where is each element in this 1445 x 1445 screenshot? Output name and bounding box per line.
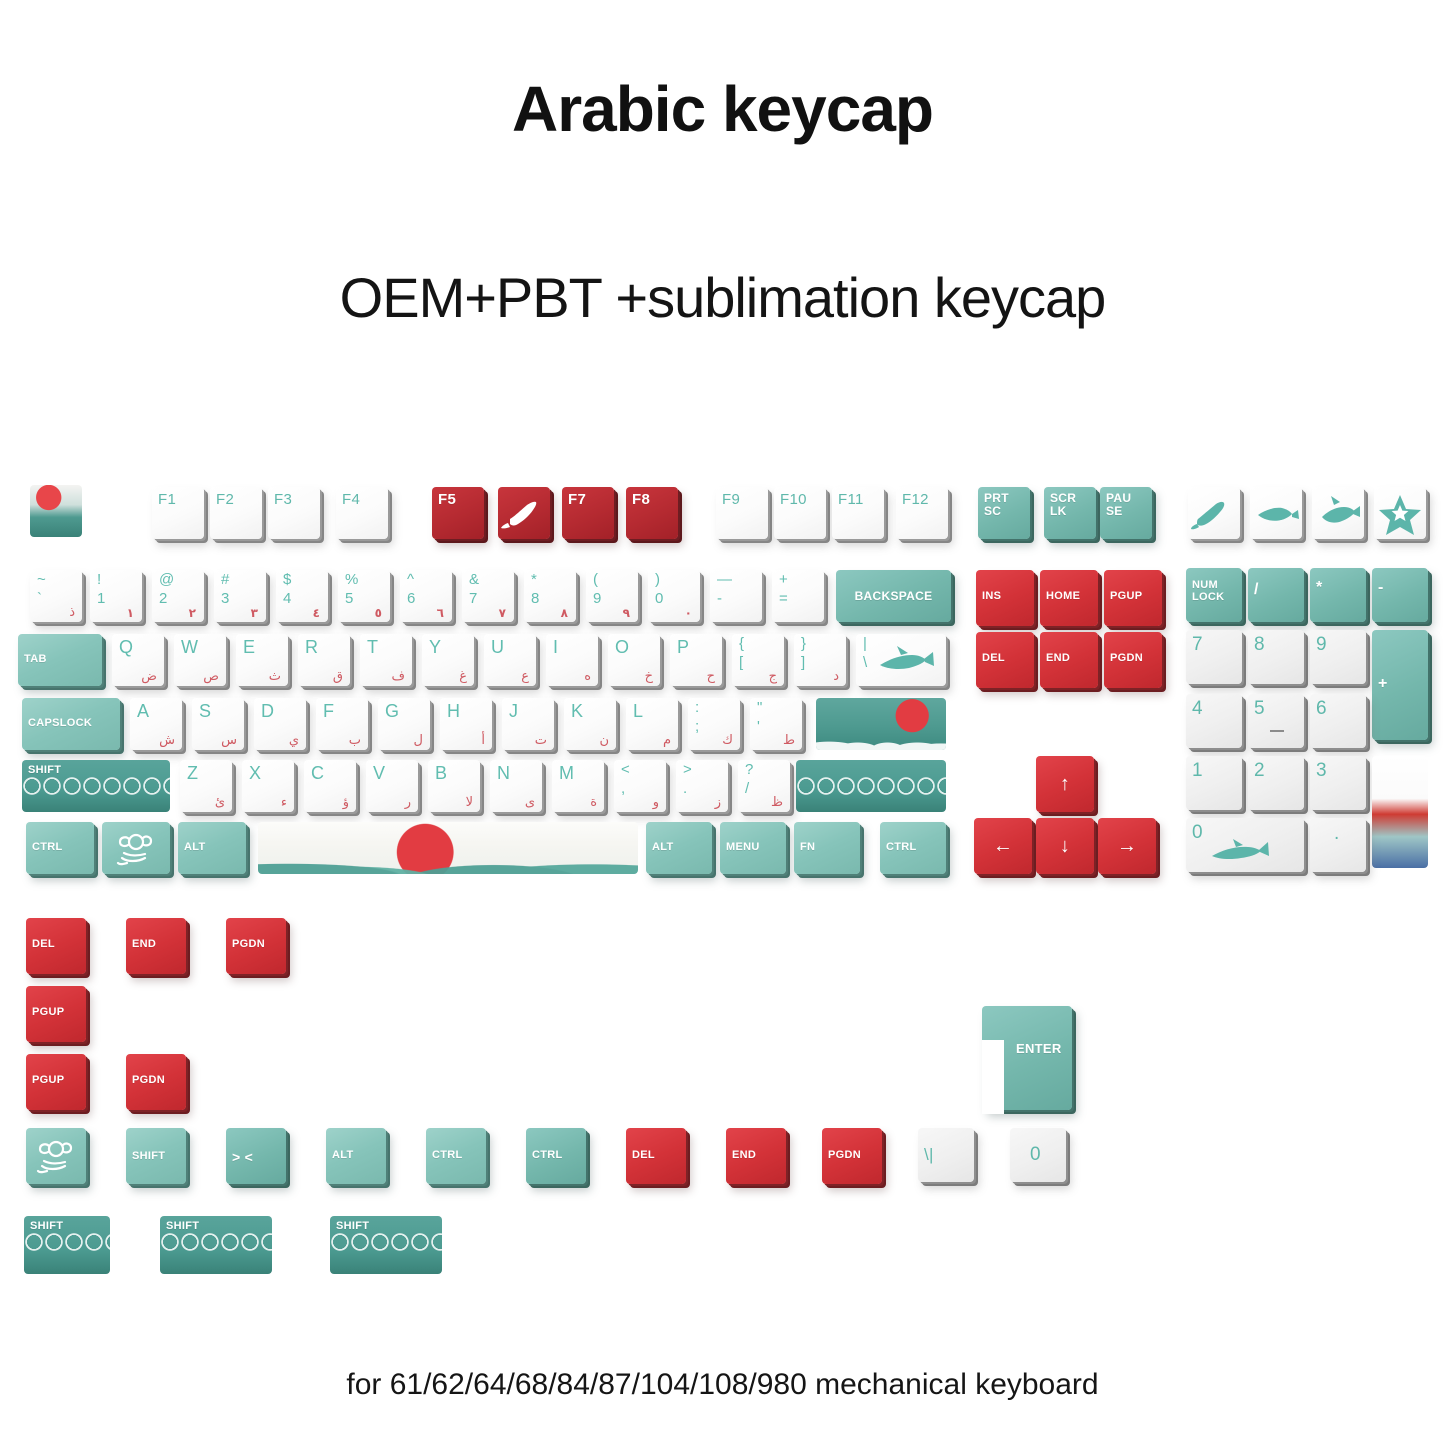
key-semicolon-arabic: ك: [722, 733, 733, 748]
key-a[interactable]: Aش: [130, 698, 182, 750]
key-a-arabic: ش: [159, 733, 175, 748]
key-end-label: END: [1046, 653, 1070, 665]
cloud-icon: [102, 822, 170, 874]
key-menu[interactable]: MENU: [720, 822, 786, 874]
key-numpad-6[interactable]: 6: [1310, 694, 1366, 748]
key-f6[interactable]: [498, 487, 550, 539]
key-digit-2[interactable]: @ 2 ٢: [152, 570, 204, 622]
key-q-latin: Q: [119, 637, 133, 658]
key-digit-6-base: 6: [407, 590, 416, 607]
key-c-arabic: ؤ: [343, 795, 349, 810]
key-pageup-label: PGUP: [1110, 591, 1142, 603]
key-extra-end-2[interactable]: END: [726, 1128, 786, 1184]
key-semicolon-shift: :: [695, 699, 699, 716]
key-scrolllock[interactable]: SCR LK: [1044, 487, 1096, 539]
key-f-latin: F: [323, 701, 334, 722]
key-novelty-fish-2[interactable]: [1250, 487, 1302, 539]
key-digit-3[interactable]: # 3 ٣: [214, 570, 266, 622]
key-f8[interactable]: F8: [626, 487, 678, 539]
key-numpad-8[interactable]: 8: [1248, 630, 1304, 684]
key-s[interactable]: Sس: [192, 698, 244, 750]
key-period-shift: >: [683, 761, 692, 778]
key-z-arabic: ئ: [215, 795, 225, 810]
key-backspace-label: BACKSPACE: [836, 570, 951, 622]
key-k-latin: K: [571, 701, 583, 722]
key-b-latin: B: [435, 763, 447, 784]
key-period-base: .: [683, 780, 687, 797]
key-v[interactable]: Vر: [366, 760, 418, 812]
key-extra-zero[interactable]: 0: [1010, 1128, 1066, 1182]
key-extra-pgdn-3-label: PGDN: [828, 1150, 861, 1162]
key-j-arabic: ت: [535, 733, 547, 748]
key-extra-end-1[interactable]: END: [126, 918, 186, 974]
cloud-icon: [26, 1128, 86, 1184]
key-arrow-right-label: →: [1098, 818, 1156, 874]
key-o[interactable]: Oخ: [608, 634, 660, 686]
key-extra-del-2-label: DEL: [632, 1150, 655, 1162]
key-home[interactable]: HOME: [1040, 570, 1098, 626]
key-e[interactable]: Eث: [236, 634, 288, 686]
key-extra-shift-2[interactable]: SHIFT: [160, 1216, 272, 1274]
key-f[interactable]: Fب: [316, 698, 368, 750]
key-f7[interactable]: F7: [562, 487, 614, 539]
key-numpad-5[interactable]: 5: [1248, 694, 1304, 748]
key-extra-pgdn-2[interactable]: PGDN: [126, 1054, 186, 1110]
key-w-latin: W: [181, 637, 198, 658]
key-numpad-divide[interactable]: /: [1248, 568, 1304, 622]
key-numpad-dot-label: .: [1334, 824, 1340, 844]
key-digit-9-arabic: ٩: [623, 606, 630, 620]
key-digit-0-shift: ): [655, 571, 660, 588]
key-delete-label: DEL: [982, 653, 1005, 665]
key-insert[interactable]: INS: [976, 570, 1034, 626]
key-tab-label: TAB: [24, 654, 47, 666]
key-quote[interactable]: " ' ط: [750, 698, 802, 750]
key-alt-left-label: ALT: [184, 842, 205, 854]
key-esc-art[interactable]: [30, 485, 82, 537]
key-numpad-7-label: 7: [1192, 635, 1203, 655]
key-f1[interactable]: F1: [152, 487, 204, 539]
key-pause[interactable]: PAU SE: [1100, 487, 1152, 539]
key-digit-8-base: 8: [531, 590, 540, 607]
key-arrow-down[interactable]: ↓: [1036, 818, 1094, 874]
key-digit-5[interactable]: % 5 ٥: [338, 570, 390, 622]
key-digit-4[interactable]: $ 4 ٤: [276, 570, 328, 622]
key-m[interactable]: Mة: [552, 760, 604, 812]
key-f7-label: F7: [568, 492, 586, 508]
key-f4[interactable]: F4: [336, 487, 388, 539]
key-extra-shift-3-label: SHIFT: [336, 1221, 369, 1233]
key-numlock-label: NUM LOCK: [1192, 580, 1224, 603]
key-comma-base: ,: [621, 780, 625, 797]
key-t[interactable]: Tف: [360, 634, 412, 686]
key-slash-base: /: [745, 780, 749, 797]
key-numpad-enter[interactable]: [1372, 756, 1428, 868]
key-f5-label: F5: [438, 492, 456, 508]
key-extra-alt[interactable]: ALT: [326, 1128, 386, 1184]
key-minus-shift: —: [717, 571, 732, 588]
key-bracket-right[interactable]: } ] د: [794, 634, 846, 686]
key-j-latin: J: [509, 701, 518, 722]
key-t-arabic: ف: [392, 669, 405, 684]
key-tab[interactable]: TAB: [18, 634, 102, 686]
key-comma[interactable]: < , و: [614, 760, 666, 812]
key-r-latin: R: [305, 637, 318, 658]
key-extra-pgdn-1[interactable]: PGDN: [226, 918, 286, 974]
key-shift-right[interactable]: [796, 760, 946, 812]
key-arrow-up[interactable]: ↑: [1036, 756, 1094, 812]
key-f2[interactable]: F2: [210, 487, 262, 539]
key-alt-right[interactable]: ALT: [646, 822, 712, 874]
key-digit-1-arabic: ١: [127, 606, 134, 620]
key-digit-2-base: 2: [159, 590, 168, 607]
key-numpad-plus[interactable]: +: [1372, 630, 1428, 740]
key-pause-label: PAU SE: [1106, 492, 1131, 517]
key-numpad-2[interactable]: 2: [1248, 756, 1304, 810]
key-f10[interactable]: F10: [774, 487, 826, 539]
key-equal-shift: +: [779, 571, 788, 588]
key-f9[interactable]: F9: [716, 487, 768, 539]
key-printscreen[interactable]: PRT SC: [978, 487, 1030, 539]
key-q[interactable]: Qض: [112, 634, 164, 686]
key-numpad-multiply[interactable]: *: [1310, 568, 1366, 622]
key-digit-3-base: 3: [221, 590, 230, 607]
key-pageup[interactable]: PGUP: [1104, 570, 1162, 626]
key-f5[interactable]: F5: [432, 487, 484, 539]
key-end[interactable]: END: [1040, 632, 1098, 688]
key-extra-ctrl-1[interactable]: CTRL: [426, 1128, 486, 1184]
key-grave[interactable]: ~ ` ذ: [30, 570, 82, 622]
key-numpad-1[interactable]: 1: [1186, 756, 1242, 810]
key-x[interactable]: Xء: [242, 760, 294, 812]
key-z[interactable]: Zئ: [180, 760, 232, 812]
key-enter-main[interactable]: [816, 698, 946, 750]
key-digit-6[interactable]: ^ 6 ٦: [400, 570, 452, 622]
key-numpad-9-label: 9: [1316, 635, 1327, 655]
key-numpad-minus-label: -: [1378, 580, 1384, 597]
key-extra-pgdn-1-label: PGDN: [232, 939, 265, 951]
key-digit-4-shift: $: [283, 571, 292, 588]
key-w-arabic: ص: [203, 669, 219, 684]
key-extra-pgdn-3[interactable]: PGDN: [822, 1128, 882, 1184]
key-s-latin: S: [199, 701, 211, 722]
key-slash[interactable]: ? / ظ: [738, 760, 790, 812]
key-bracket-right-shift: }: [801, 635, 806, 652]
key-digit-0[interactable]: ) 0 ٠: [648, 570, 700, 622]
key-f11-label: F11: [838, 492, 864, 508]
key-minus-base: -: [717, 590, 722, 607]
key-insert-label: INS: [982, 591, 1001, 603]
key-digit-7-shift: &: [469, 571, 479, 588]
key-w[interactable]: Wص: [174, 634, 226, 686]
key-digit-7-base: 7: [469, 590, 478, 607]
key-digit-4-base: 4: [283, 590, 292, 607]
key-digit-2-shift: @: [159, 571, 175, 588]
key-capslock-label: CAPSLOCK: [28, 718, 92, 730]
mount-fuji-wave-art: [30, 485, 82, 537]
key-u-latin: U: [491, 637, 504, 658]
key-extra-backslash-label: \|: [924, 1146, 934, 1164]
key-semicolon-base: ;: [695, 718, 699, 735]
key-semicolon[interactable]: : ; ك: [688, 698, 740, 750]
key-c-latin: C: [311, 763, 324, 784]
key-l[interactable]: Lم: [626, 698, 678, 750]
fish-icon: [498, 487, 550, 539]
key-l-latin: L: [633, 701, 643, 722]
key-numpad-5-label: 5: [1254, 699, 1265, 719]
key-alt-left[interactable]: ALT: [178, 822, 246, 874]
homing-bar: [1270, 730, 1284, 732]
key-numpad-1-label: 1: [1192, 761, 1203, 781]
key-extra-shift-2-label: SHIFT: [166, 1221, 199, 1233]
key-minus[interactable]: — -: [710, 570, 762, 622]
enter-notch: [982, 1040, 1004, 1114]
key-extra-del-1-label: DEL: [32, 939, 55, 951]
key-arrow-up-label: ↑: [1036, 756, 1094, 812]
great-wave-art: [258, 822, 638, 874]
key-fn[interactable]: FN: [794, 822, 860, 874]
key-novelty-fish-1[interactable]: [1188, 487, 1240, 539]
key-comma-shift: <: [621, 761, 630, 778]
key-menu-label: MENU: [726, 842, 760, 854]
key-shift-left[interactable]: SHIFT: [22, 760, 170, 812]
key-extra-backslash[interactable]: \|: [918, 1128, 974, 1182]
fish-icon: [1188, 487, 1240, 539]
key-extra-end-1-label: END: [132, 939, 156, 951]
key-p[interactable]: Pح: [670, 634, 722, 686]
key-numpad-multiply-label: *: [1316, 580, 1323, 597]
key-v-latin: V: [373, 763, 385, 784]
key-d[interactable]: Dي: [254, 698, 306, 750]
key-numpad-4[interactable]: 4: [1186, 694, 1242, 748]
key-extra-pgup-2[interactable]: PGUP: [26, 1054, 86, 1110]
key-digit-8[interactable]: * 8 ٨: [524, 570, 576, 622]
key-i[interactable]: Iه: [546, 634, 598, 686]
key-extra-win[interactable]: [26, 1128, 86, 1184]
key-extra-del-1[interactable]: DEL: [26, 918, 86, 974]
key-grave-shift: ~: [37, 571, 46, 588]
key-e-latin: E: [243, 637, 255, 658]
key-digit-5-shift: %: [345, 571, 359, 588]
key-printscreen-label: PRT SC: [984, 492, 1009, 517]
key-g-arabic: ل: [414, 733, 423, 748]
key-extra-anglebracket[interactable]: > <: [226, 1128, 286, 1184]
key-s-arabic: س: [221, 733, 237, 748]
key-bracket-left[interactable]: { [ ج: [732, 634, 784, 686]
key-backspace[interactable]: BACKSPACE: [836, 570, 951, 622]
key-z-latin: Z: [187, 763, 198, 784]
key-f12-label: F12: [902, 492, 929, 508]
key-numpad-2-label: 2: [1254, 761, 1265, 781]
key-y-arabic: غ: [459, 669, 467, 684]
key-digit-1-base: 1: [97, 590, 106, 607]
key-arrow-right[interactable]: →: [1098, 818, 1156, 874]
key-n[interactable]: Nى: [490, 760, 542, 812]
key-i-latin: I: [553, 637, 558, 658]
key-grave-arabic: ذ: [69, 605, 75, 620]
key-g[interactable]: Gل: [378, 698, 430, 750]
key-h-arabic: أ: [481, 733, 485, 748]
key-digit-7-arabic: ٧: [499, 606, 506, 620]
key-quote-shift: ": [757, 699, 763, 716]
key-f3[interactable]: F3: [268, 487, 320, 539]
key-m-latin: M: [559, 763, 574, 784]
key-digit-0-arabic: ٠: [685, 606, 692, 620]
key-r-arabic: ق: [333, 669, 343, 684]
key-ctrl-left[interactable]: CTRL: [26, 822, 94, 874]
key-i-arabic: ه: [584, 669, 591, 684]
key-digit-1-shift: !: [97, 571, 101, 588]
key-u[interactable]: Uع: [484, 634, 536, 686]
key-p-latin: P: [677, 637, 689, 658]
key-f10-label: F10: [780, 492, 807, 508]
key-e-arabic: ث: [269, 669, 281, 684]
key-arrow-down-label: ↓: [1036, 818, 1094, 874]
key-pagedown[interactable]: PGDN: [1104, 632, 1162, 688]
key-n-arabic: ى: [525, 795, 535, 810]
key-numpad-3[interactable]: 3: [1310, 756, 1366, 810]
key-numpad-4-label: 4: [1192, 699, 1203, 719]
key-extra-shift-3[interactable]: SHIFT: [330, 1216, 442, 1274]
key-arrow-left[interactable]: ←: [974, 818, 1032, 874]
key-numpad-plus-label: +: [1378, 676, 1388, 693]
key-novelty-fish-3[interactable]: [1312, 487, 1364, 539]
key-ctrl-left-label: CTRL: [32, 842, 63, 854]
key-numpad-3-label: 3: [1316, 761, 1327, 781]
key-digit-9[interactable]: ( 9 ٩: [586, 570, 638, 622]
key-numlock[interactable]: NUM LOCK: [1186, 568, 1242, 622]
key-f1-label: F1: [158, 492, 176, 508]
key-bracket-right-base: ]: [801, 654, 805, 671]
key-numpad-dot[interactable]: .: [1310, 818, 1366, 872]
key-numpad-0[interactable]: 0: [1186, 818, 1304, 872]
key-digit-9-shift: (: [593, 571, 598, 588]
key-extra-enter-label: ENTER: [1016, 1042, 1062, 1056]
key-u-arabic: ع: [521, 669, 529, 684]
key-f3-label: F3: [274, 492, 292, 508]
key-f2-label: F2: [216, 492, 234, 508]
key-digit-1[interactable]: ! 1 ١: [90, 570, 142, 622]
key-h[interactable]: Hأ: [440, 698, 492, 750]
key-shift-left-label: SHIFT: [28, 765, 61, 777]
key-digit-2-arabic: ٢: [189, 606, 196, 620]
key-quote-arabic: ط: [783, 733, 795, 748]
key-f12[interactable]: F12: [896, 487, 948, 539]
key-quote-base: ': [757, 718, 760, 735]
key-v-arabic: ر: [405, 795, 411, 810]
key-x-arabic: ء: [281, 795, 287, 810]
key-backslash[interactable]: | \: [856, 634, 946, 686]
key-extra-end-2-label: END: [732, 1150, 756, 1162]
key-digit-7[interactable]: & 7 ٧: [462, 570, 514, 622]
key-j[interactable]: Jت: [502, 698, 554, 750]
coral-reef-art: [1372, 756, 1428, 868]
key-pagedown-label: PGDN: [1110, 653, 1143, 665]
key-extra-pgup-1[interactable]: PGUP: [26, 986, 86, 1042]
key-m-arabic: ة: [590, 795, 597, 810]
key-extra-pgup-2-label: PGUP: [32, 1075, 64, 1087]
key-k[interactable]: Kن: [564, 698, 616, 750]
key-fn-label: FN: [800, 842, 815, 854]
key-extra-ctrl-2[interactable]: CTRL: [526, 1128, 586, 1184]
key-alt-right-label: ALT: [652, 842, 673, 854]
key-r[interactable]: Rق: [298, 634, 350, 686]
key-arrow-left-label: ←: [974, 818, 1032, 874]
key-t-latin: T: [367, 637, 378, 658]
key-digit-9-base: 9: [593, 590, 602, 607]
key-p-arabic: ح: [707, 669, 715, 684]
key-digit-5-base: 5: [345, 590, 354, 607]
key-novelty-starfish[interactable]: [1374, 487, 1426, 539]
key-f4-label: F4: [342, 492, 360, 508]
key-bracket-left-shift: {: [739, 635, 744, 652]
key-numpad-7[interactable]: 7: [1186, 630, 1242, 684]
key-extra-ctrl-2-label: CTRL: [532, 1150, 563, 1162]
key-slash-arabic: ظ: [771, 795, 783, 810]
key-extra-shift-1-label: SHIFT: [30, 1221, 63, 1233]
key-ctrl-right-label: CTRL: [886, 842, 917, 854]
key-numpad-6-label: 6: [1316, 699, 1327, 719]
key-capslock[interactable]: CAPSLOCK: [22, 698, 120, 750]
key-digit-4-arabic: ٤: [313, 606, 320, 620]
key-l-arabic: م: [663, 733, 671, 748]
key-extra-zero-label: 0: [1030, 1145, 1041, 1165]
key-digit-6-arabic: ٦: [437, 606, 444, 620]
key-home-label: HOME: [1046, 591, 1080, 603]
key-o-arabic: خ: [645, 669, 653, 684]
key-numpad-9[interactable]: 9: [1310, 630, 1366, 684]
key-c[interactable]: Cؤ: [304, 760, 356, 812]
key-q-arabic: ض: [141, 669, 157, 684]
key-f8-label: F8: [632, 492, 650, 508]
key-f-arabic: ب: [349, 733, 361, 748]
key-extra-del-2[interactable]: DEL: [626, 1128, 686, 1184]
key-y-latin: Y: [429, 637, 441, 658]
key-ctrl-right[interactable]: CTRL: [880, 822, 946, 874]
key-numpad-minus[interactable]: -: [1372, 568, 1428, 622]
key-b[interactable]: Bلا: [428, 760, 480, 812]
key-extra-shift-1[interactable]: SHIFT: [24, 1216, 110, 1274]
key-equal[interactable]: + =: [772, 570, 824, 622]
wave-sun-art: [816, 698, 946, 750]
key-h-latin: H: [447, 701, 460, 722]
key-period-arabic: ز: [715, 795, 721, 810]
key-d-latin: D: [261, 701, 274, 722]
key-equal-base: =: [779, 590, 788, 607]
key-comma-arabic: و: [653, 795, 659, 810]
key-grave-base: `: [37, 590, 42, 607]
key-o-latin: O: [615, 637, 629, 658]
key-extra-shift-small[interactable]: SHIFT: [126, 1128, 186, 1184]
key-y[interactable]: Yغ: [422, 634, 474, 686]
key-bracket-left-base: [: [739, 654, 743, 671]
key-n-latin: N: [497, 763, 510, 784]
keycap-set-photo: F1 F2 F3 F4 F5 F7 F8 F9 F10 F11 F12 PRT …: [0, 0, 1445, 1445]
shark-icon: [1186, 818, 1304, 872]
key-spacebar[interactable]: [258, 822, 638, 874]
key-a-latin: A: [137, 701, 149, 722]
key-delete[interactable]: DEL: [976, 632, 1034, 688]
key-extra-alt-label: ALT: [332, 1150, 353, 1162]
key-extra-ctrl-1-label: CTRL: [432, 1150, 463, 1162]
key-scrolllock-label: SCR LK: [1050, 492, 1076, 517]
key-f11[interactable]: F11: [832, 487, 884, 539]
key-extra-pgup-1-label: PGUP: [32, 1007, 64, 1019]
key-extra-shift-small-label: SHIFT: [132, 1151, 165, 1163]
key-win-left[interactable]: [102, 822, 170, 874]
key-digit-0-base: 0: [655, 590, 664, 607]
key-period[interactable]: > . ز: [676, 760, 728, 812]
